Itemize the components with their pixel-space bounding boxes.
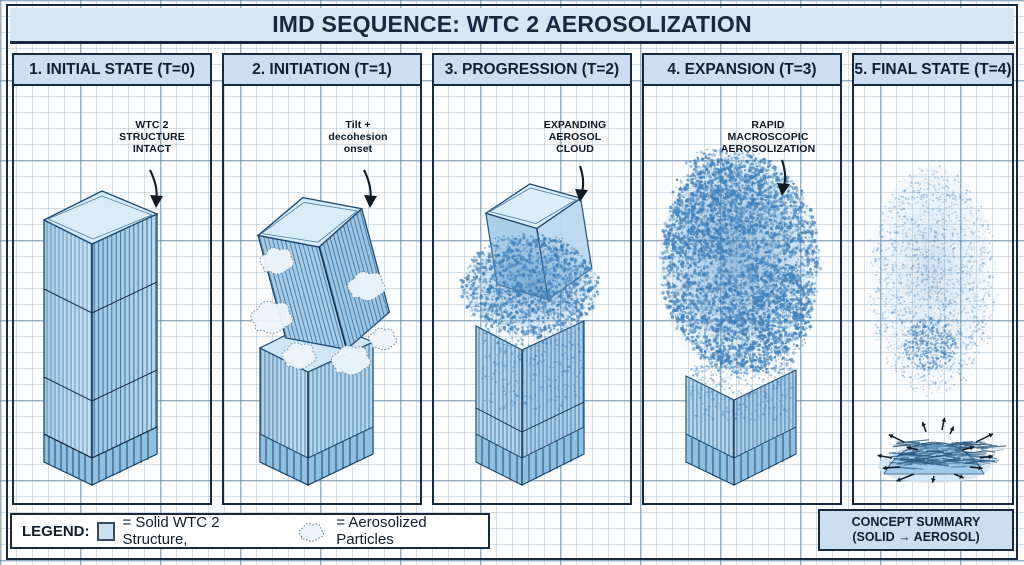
panel-4-header-label: 4. EXPANSION (T=3) <box>667 61 816 79</box>
page-title: IMD SEQUENCE: WTC 2 AEROSOLIZATION <box>272 11 752 38</box>
legend-label: LEGEND: <box>22 523 90 540</box>
panel-3-body: EXPANDING AEROSOL CLOUD <box>434 86 630 505</box>
panel-1-header: 1. INITIAL STATE (T=0) <box>14 55 210 86</box>
panel-final-state: 5. FINAL STATE (T=4) <box>852 53 1014 505</box>
panel-4-header: 4. EXPANSION (T=3) <box>644 55 840 86</box>
tower-tilting-illustration <box>224 86 420 505</box>
concept-summary-box: CONCEPT SUMMARY (SOLID → AEROSOL) <box>818 509 1014 551</box>
legend: LEGEND: = Solid WTC 2 Structure, = Aeros… <box>10 513 490 549</box>
panel-5-header-label: 5. FINAL STATE (T=4) <box>854 61 1011 79</box>
legend-aerosol-text: = Aerosolized Particles <box>336 514 488 548</box>
panel-1-header-label: 1. INITIAL STATE (T=0) <box>29 61 195 79</box>
diagram-title-bar: IMD SEQUENCE: WTC 2 AEROSOLIZATION <box>10 8 1014 44</box>
diagram-root: IMD SEQUENCE: WTC 2 AEROSOLIZATION 1. IN… <box>0 0 1024 565</box>
panel-3-header: 3. PROGRESSION (T=2) <box>434 55 630 86</box>
residual-dust-illustration <box>854 86 1012 505</box>
panel-5-header: 5. FINAL STATE (T=4) <box>854 55 1012 86</box>
summary-line-2: (SOLID → AEROSOL) <box>852 530 979 545</box>
panel-2-body: Tilt + decohesion onset <box>224 86 420 505</box>
panel-initiation: 2. INITIATION (T=1) Tilt + decohesion on… <box>222 53 422 505</box>
tower-intact-illustration <box>14 86 210 505</box>
panel-4-body: RAPID MACROSCOPIC AEROSOLIZATION <box>644 86 840 505</box>
panel-2-header: 2. INITIATION (T=1) <box>224 55 420 86</box>
legend-solid-text: = Solid WTC 2 Structure, <box>122 514 288 548</box>
panel-expansion: 4. EXPANSION (T=3) RAPID MACROSCOPIC AER… <box>642 53 842 505</box>
panel-5-body <box>854 86 1012 505</box>
panel-1-body: WTC 2 STRUCTURE INTACT <box>14 86 210 505</box>
aerosol-cloud-illustration <box>644 86 840 505</box>
panel-progression: 3. PROGRESSION (T=2) EXPANDING AEROSOL C… <box>432 53 632 505</box>
panel-2-header-label: 2. INITIATION (T=1) <box>252 61 392 79</box>
tower-progression-illustration <box>434 86 630 505</box>
solid-square-icon <box>97 522 116 541</box>
panel-initial-state: 1. INITIAL STATE (T=0) WTC 2 STRUCTURE I… <box>12 53 212 505</box>
panel-3-header-label: 3. PROGRESSION (T=2) <box>445 61 619 79</box>
summary-line-1: CONCEPT SUMMARY <box>852 515 981 530</box>
aerosol-cloud-icon <box>295 521 329 542</box>
